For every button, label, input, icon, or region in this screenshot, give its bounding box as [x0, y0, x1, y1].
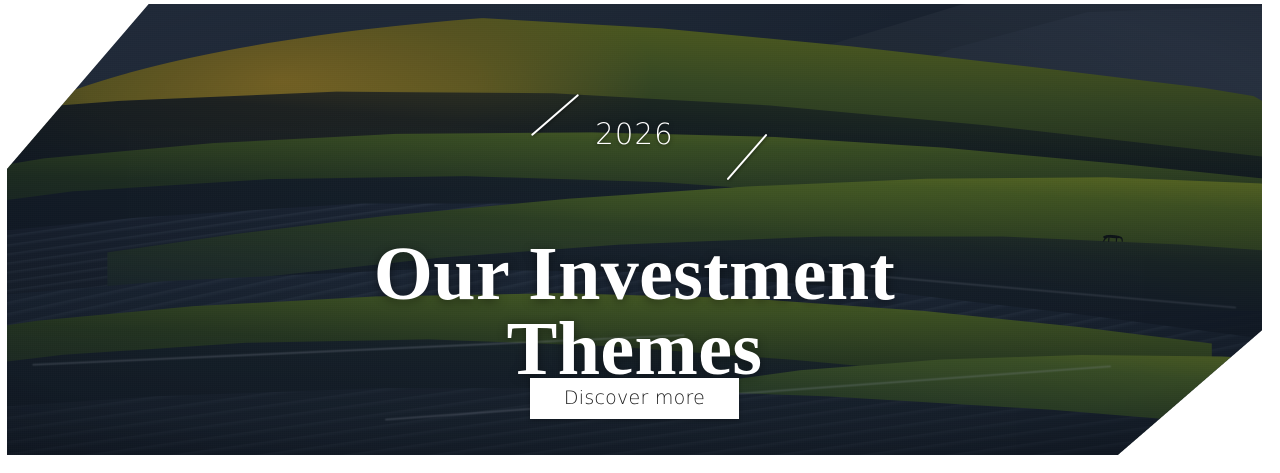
hero-headline: Our Investment Themes: [7, 237, 1262, 387]
hero-banner: 2026 Our Investment Themes Discover more: [7, 4, 1262, 455]
hero-headline-line-1: Our Investment: [374, 232, 895, 316]
discover-more-button[interactable]: Discover more: [530, 378, 739, 419]
hero-cta-container: Discover more: [7, 378, 1262, 419]
hero-year-label: 2026: [7, 117, 1262, 151]
hero-headline-line-2: Themes: [7, 312, 1262, 387]
hero-content: 2026 Our Investment Themes Discover more: [7, 4, 1262, 455]
